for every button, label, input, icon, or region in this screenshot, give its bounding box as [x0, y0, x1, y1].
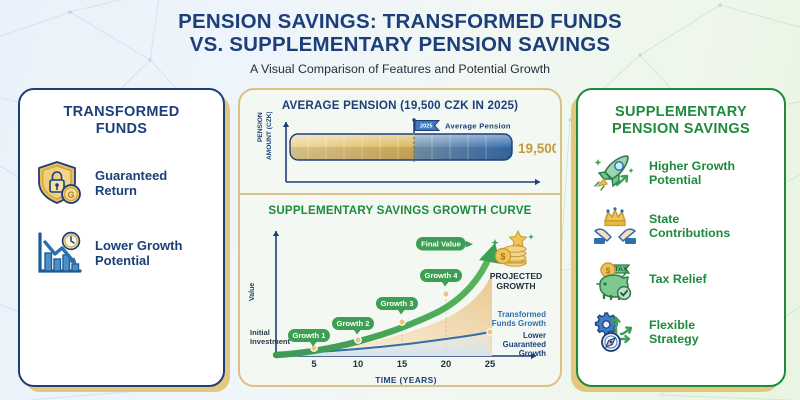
transformed-funds-heading: Transformed Funds — [20, 90, 223, 138]
feature-state-contributions: State Contributions — [578, 203, 784, 249]
svg-text:Lower: Lower — [523, 331, 546, 340]
average-pension-series-label: Average Pension — [445, 122, 511, 131]
hands-crown-icon — [590, 203, 640, 249]
feature-guaranteed-return: G Guaranteed Return — [20, 158, 223, 208]
feature-label-line-1: Flexible — [649, 318, 699, 333]
svg-text:Growth 1: Growth 1 — [293, 331, 327, 340]
feature-label: Tax Relief — [649, 272, 707, 287]
growth-curve-chart-title: Supplementary Savings Growth Curve — [240, 195, 560, 217]
page-title-line-1: Pension Savings: Transformed Funds — [0, 11, 800, 34]
svg-text:5: 5 — [311, 358, 316, 369]
page-title-line-2: vs. Supplementary Pension Savings — [0, 34, 800, 57]
header: Pension Savings: Transformed Funds vs. S… — [0, 0, 800, 76]
supplementary-feature-list: Higher Growth Potential — [578, 150, 784, 355]
svg-text:Projected: Projected — [490, 271, 543, 281]
feature-label-line-1: Guaranteed — [95, 168, 167, 183]
feature-label: Flexible Strategy — [649, 318, 699, 347]
piggy-bank-tax-icon: TAX $ — [590, 256, 640, 302]
point-badge-growth-2: Growth 2 — [332, 317, 374, 335]
svg-text:Growth 3: Growth 3 — [381, 299, 414, 308]
feature-label: Lower Growth Potential — [95, 238, 182, 268]
svg-text:Growth 2: Growth 2 — [337, 319, 370, 328]
feature-label-line-2: Potential — [649, 173, 735, 188]
gear-compass-icon — [590, 309, 640, 355]
charts-panel: Average Pension (19,500 CZK in 2025) — [238, 88, 562, 387]
feature-lower-growth-potential: Lower Growth Potential — [20, 228, 223, 278]
svg-text:Growth 4: Growth 4 — [425, 271, 459, 280]
point-badge-growth-1: Growth 1 — [288, 329, 330, 347]
point-badge-final-value: Final Value — [416, 237, 473, 251]
point-badge-growth-4: Growth 4 — [420, 269, 462, 287]
page-subtitle: A Visual Comparison of Features and Pote… — [0, 62, 800, 76]
heading-line-1: Transformed — [20, 104, 223, 121]
feature-label-line-2: Potential — [95, 253, 182, 268]
feature-flexible-strategy: Flexible Strategy — [578, 309, 784, 355]
value-y-axis-label: Value — [249, 283, 256, 301]
svg-text:15: 15 — [397, 358, 407, 369]
svg-text:G: G — [67, 190, 74, 200]
heading-line-2: Pension Savings — [578, 121, 784, 138]
supplementary-heading: Supplementary Pension Savings — [578, 90, 784, 138]
projected-growth-label: Projected Growth — [490, 271, 543, 291]
feature-tax-relief: TAX $ Tax Relief — [578, 256, 784, 302]
svg-text:Initial: Initial — [250, 328, 270, 337]
coin-stack-star-icon: $ — [491, 231, 533, 266]
pension-y-axis-label: PENSION — [257, 112, 264, 142]
svg-text:Funds Growth: Funds Growth — [492, 319, 546, 328]
transformed-funds-growth-legend: Transformed Funds Growth — [492, 310, 546, 328]
x-axis-ticks: 5 10 15 20 25 — [311, 358, 495, 369]
heading-line-2: Funds — [20, 121, 223, 138]
average-pension-chart: Average Pension (19,500 CZK in 2025) — [240, 90, 560, 193]
feature-label-line-2: Strategy — [649, 332, 699, 347]
rocket-icon — [590, 150, 640, 196]
shield-lock-coin-icon: G — [32, 158, 86, 208]
year-flag-marker: 2025 — [412, 118, 439, 133]
feature-label: State Contributions — [649, 212, 730, 241]
lower-guaranteed-growth-legend: Lower Guaranteed Growth — [503, 331, 547, 358]
svg-text:$: $ — [500, 252, 505, 262]
page-title: Pension Savings: Transformed Funds vs. S… — [0, 11, 800, 56]
svg-text:Final Value: Final Value — [421, 240, 461, 249]
svg-text:25: 25 — [485, 358, 495, 369]
svg-text:20: 20 — [441, 358, 451, 369]
growth-curve-chart: Supplementary Savings Growth Curve Value — [240, 195, 560, 385]
feature-label-line-1: Lower Growth — [95, 238, 182, 253]
feature-label: Higher Growth Potential — [649, 159, 735, 188]
svg-text:Guaranteed: Guaranteed — [503, 340, 547, 349]
transformed-funds-feature-list: G Guaranteed Return — [20, 158, 223, 278]
transformed-funds-panel: Transformed Funds G — [18, 88, 225, 387]
feature-label-line-1: Higher Growth — [649, 159, 735, 174]
point-badge-growth-3: Growth 3 — [376, 297, 418, 315]
feature-label-line-1: Tax Relief — [649, 272, 707, 287]
supplementary-pension-savings-panel: Supplementary Pension Savings — [576, 88, 786, 387]
feature-label-line-2: Contributions — [649, 226, 730, 241]
svg-text:Growth: Growth — [496, 281, 535, 291]
svg-text:Growth: Growth — [519, 349, 547, 358]
year-flag-label: 2025 — [420, 123, 432, 129]
heading-line-1: Supplementary — [578, 104, 784, 121]
feature-label: Guaranteed Return — [95, 168, 167, 198]
feature-higher-growth-potential: Higher Growth Potential — [578, 150, 784, 196]
pension-y-axis-label-2: AMOUNT (CZK) — [266, 112, 273, 160]
svg-text:10: 10 — [353, 358, 363, 369]
declining-bar-chart-clock-icon — [32, 228, 86, 278]
feature-label-line-1: State — [649, 212, 730, 227]
svg-text:$: $ — [606, 266, 611, 276]
feature-label-line-2: Return — [95, 183, 167, 198]
svg-text:Transformed: Transformed — [498, 310, 547, 319]
svg-text:Investment: Investment — [250, 337, 291, 346]
x-axis-label: Time (Years) — [375, 375, 437, 385]
average-pension-chart-title: Average Pension (19,500 CZK in 2025) — [240, 90, 560, 112]
average-pension-value: 19,500 CZK — [518, 141, 556, 156]
initial-investment-label: Initial Investment — [250, 328, 291, 346]
